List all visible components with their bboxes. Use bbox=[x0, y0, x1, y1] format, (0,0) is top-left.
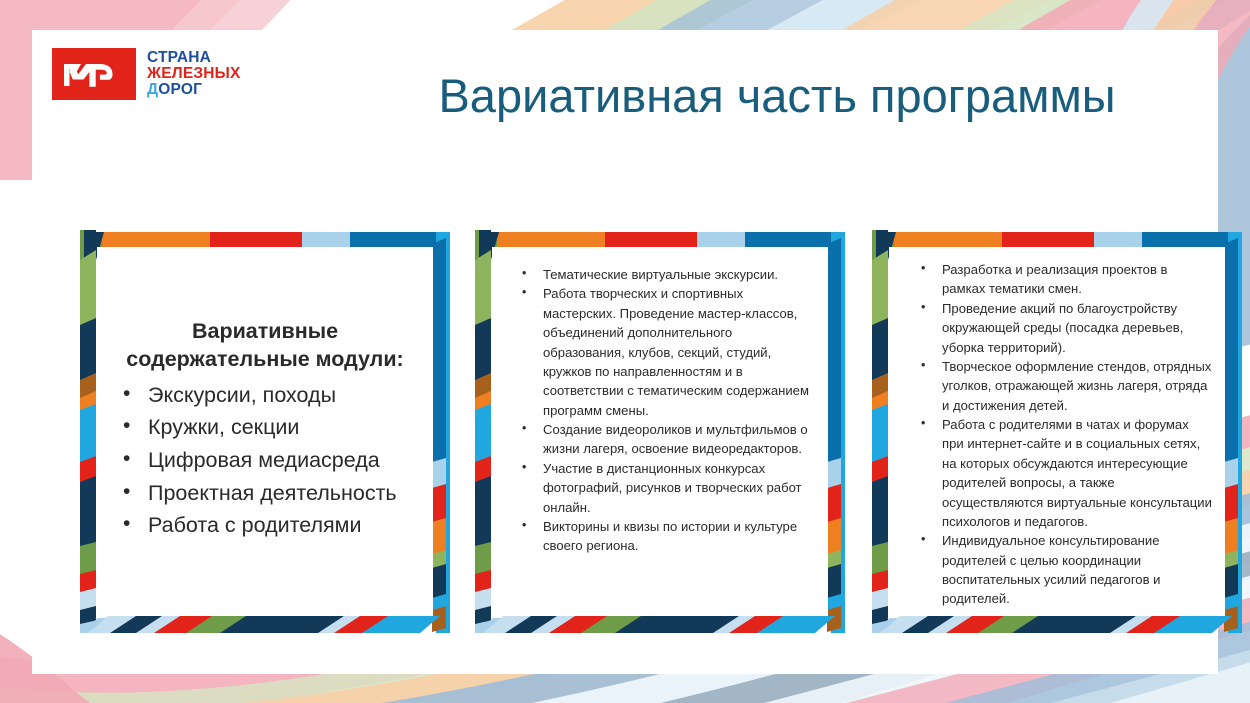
rzd-logo-mark-icon bbox=[52, 48, 136, 100]
box-modules-heading-line1: Вариативные bbox=[103, 317, 427, 345]
box-modules-content: Вариативные содержательные модули: Экску… bbox=[97, 247, 433, 616]
box-projects-list: Разработка и реализация проектов в рамка… bbox=[897, 260, 1213, 609]
box-modules-heading-line2: содержательные модули: bbox=[103, 345, 427, 373]
box-projects-content: Разработка и реализация проектов в рамка… bbox=[889, 247, 1225, 616]
list-item: Участие в дистанционных конкурсах фотогр… bbox=[500, 459, 816, 517]
list-item: Тематические виртуальные экскурсии. bbox=[500, 265, 816, 284]
brand-line-1: СТРАНА bbox=[147, 50, 241, 66]
list-item: Создание видеороликов и мультфильмов о ж… bbox=[500, 420, 816, 459]
content-box-projects: Разработка и реализация проектов в рамка… bbox=[872, 230, 1242, 633]
rzd-brand-logo: СТРАНА ЖЕЛЕЗНЫХ ДОРОГ bbox=[52, 48, 241, 100]
list-item: Цифровая медиасреда bbox=[103, 444, 427, 477]
brand-line-2: ЖЕЛЕЗНЫХ bbox=[147, 66, 241, 82]
box-modules-heading: Вариативные содержательные модули: bbox=[103, 317, 427, 374]
list-item: Проектная деятельность bbox=[103, 477, 427, 510]
content-box-activities: Тематические виртуальные экскурсии. Рабо… bbox=[475, 230, 845, 633]
list-item: Работа с родителями bbox=[103, 509, 427, 542]
box-activities-content: Тематические виртуальные экскурсии. Рабо… bbox=[492, 247, 828, 616]
list-item: Работа творческих и спортивных мастерски… bbox=[500, 284, 816, 420]
brand-wordmark: СТРАНА ЖЕЛЕЗНЫХ ДОРОГ bbox=[147, 50, 241, 97]
box-activities-list: Тематические виртуальные экскурсии. Рабо… bbox=[500, 265, 816, 556]
brand-line-3-initial: Д bbox=[147, 81, 158, 98]
box-modules-list: Экскурсии, походы Кружки, секции Цифрова… bbox=[103, 379, 427, 542]
list-item: Творческое оформление стендов, отрядных … bbox=[897, 357, 1213, 415]
list-item: Индивидуальное консультирование родителе… bbox=[897, 531, 1213, 609]
slide-card: СТРАНА ЖЕЛЕЗНЫХ ДОРОГ Вариативная часть … bbox=[32, 30, 1218, 674]
list-item: Проведение акций по благоустройству окру… bbox=[897, 299, 1213, 357]
list-item: Викторины и квизы по истории и культуре … bbox=[500, 517, 816, 556]
brand-line-3-rest: ОРОГ bbox=[158, 81, 202, 98]
list-item: Работа с родителями в чатах и форумах пр… bbox=[897, 415, 1213, 531]
content-box-modules: Вариативные содержательные модули: Экску… bbox=[80, 230, 450, 633]
presentation-slide: СТРАНА ЖЕЛЕЗНЫХ ДОРОГ Вариативная часть … bbox=[0, 0, 1250, 703]
list-item: Экскурсии, походы bbox=[103, 379, 427, 412]
slide-title: Вариативная часть программы bbox=[362, 68, 1192, 123]
brand-line-3: ДОРОГ bbox=[147, 82, 241, 98]
rzd-glyph-icon bbox=[52, 48, 136, 100]
list-item: Разработка и реализация проектов в рамка… bbox=[897, 260, 1213, 299]
list-item: Кружки, секции bbox=[103, 411, 427, 444]
